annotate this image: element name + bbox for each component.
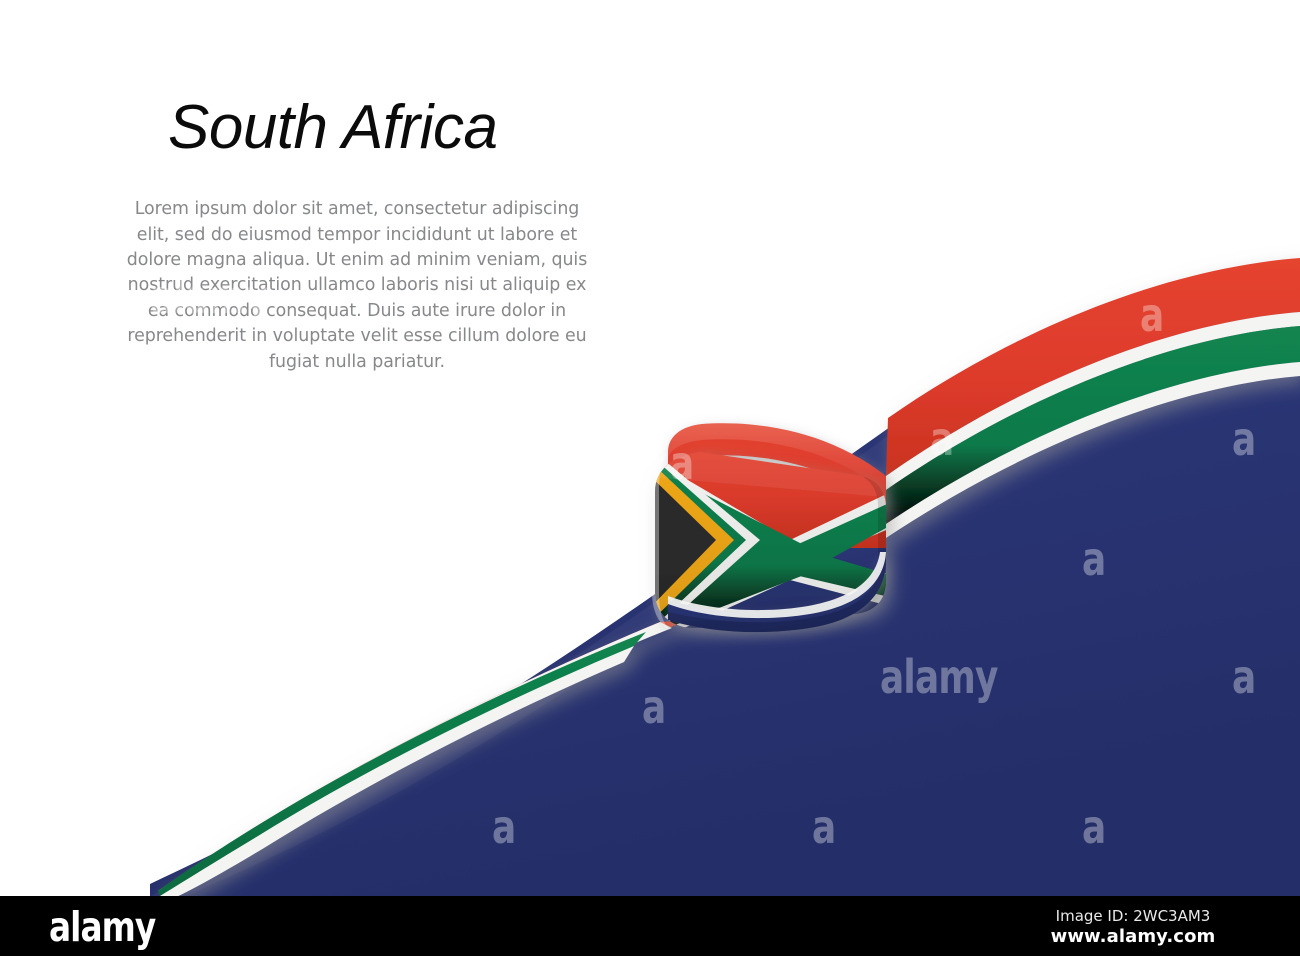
text-block: South Africa Lorem ipsum dolor sit amet,… (122, 96, 592, 375)
alamy-logo: alamy (49, 907, 155, 948)
page-title: South Africa (122, 96, 592, 159)
image-id-label: Image ID: 2WC3AM3 (1018, 907, 1248, 925)
alamy-url[interactable]: www.alamy.com (1018, 925, 1248, 949)
body-paragraph: Lorem ipsum dolor sit amet, consectetur … (122, 159, 592, 375)
poster-canvas: South Africa Lorem ipsum dolor sit amet,… (0, 0, 1300, 956)
footer-bar: alamy Image ID: 2WC3AM3 www.alamy.com (0, 896, 1300, 956)
footer-right: Image ID: 2WC3AM3 www.alamy.com (1018, 907, 1248, 949)
